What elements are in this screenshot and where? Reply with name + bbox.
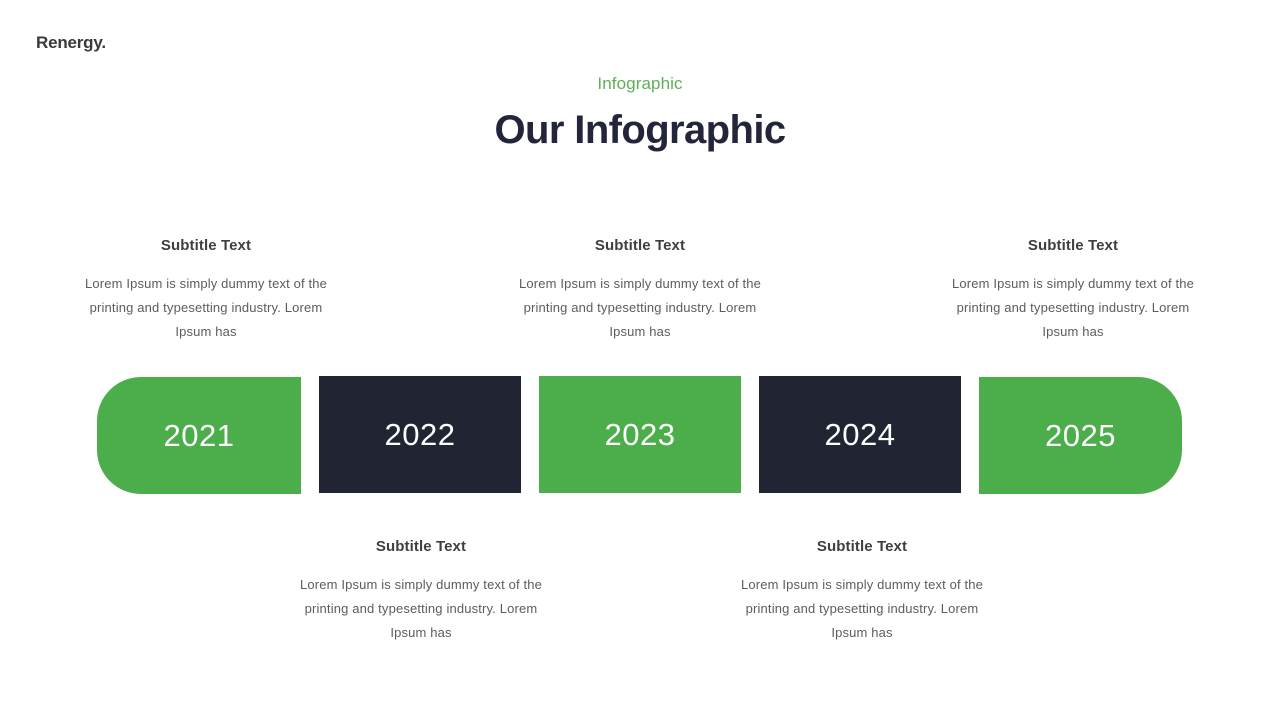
subtitle-text: Subtitle Text xyxy=(515,236,765,256)
text-block-top-2: Subtitle Text Lorem Ipsum is simply dumm… xyxy=(515,236,765,344)
text-block-top-1: Subtitle Text Lorem Ipsum is simply dumm… xyxy=(81,236,331,344)
body-text: Lorem Ipsum is simply dummy text of the … xyxy=(515,272,765,344)
timeline-bar-2021[interactable]: 2021 xyxy=(97,377,301,494)
timeline-bar-2024[interactable]: 2024 xyxy=(759,376,961,493)
subtitle-text: Subtitle Text xyxy=(81,236,331,256)
text-block-top-3: Subtitle Text Lorem Ipsum is simply dumm… xyxy=(948,236,1198,344)
page-heading: Infographic Our Infographic xyxy=(0,70,1280,158)
subtitle-text: Subtitle Text xyxy=(948,236,1198,256)
timeline-bar-2023[interactable]: 2023 xyxy=(539,376,741,493)
timeline-bar-2022[interactable]: 2022 xyxy=(319,376,521,493)
timeline-bar-2025[interactable]: 2025 xyxy=(979,377,1182,494)
body-text: Lorem Ipsum is simply dummy text of the … xyxy=(296,573,546,645)
page-title: Our Infographic xyxy=(0,102,1280,158)
text-block-bottom-2: Subtitle Text Lorem Ipsum is simply dumm… xyxy=(737,537,987,645)
text-block-bottom-1: Subtitle Text Lorem Ipsum is simply dumm… xyxy=(296,537,546,645)
heading-eyebrow: Infographic xyxy=(0,70,1280,98)
subtitle-text: Subtitle Text xyxy=(296,537,546,557)
brand-logo: Renergy. xyxy=(36,33,106,53)
subtitle-text: Subtitle Text xyxy=(737,537,987,557)
body-text: Lorem Ipsum is simply dummy text of the … xyxy=(948,272,1198,344)
body-text: Lorem Ipsum is simply dummy text of the … xyxy=(737,573,987,645)
body-text: Lorem Ipsum is simply dummy text of the … xyxy=(81,272,331,344)
